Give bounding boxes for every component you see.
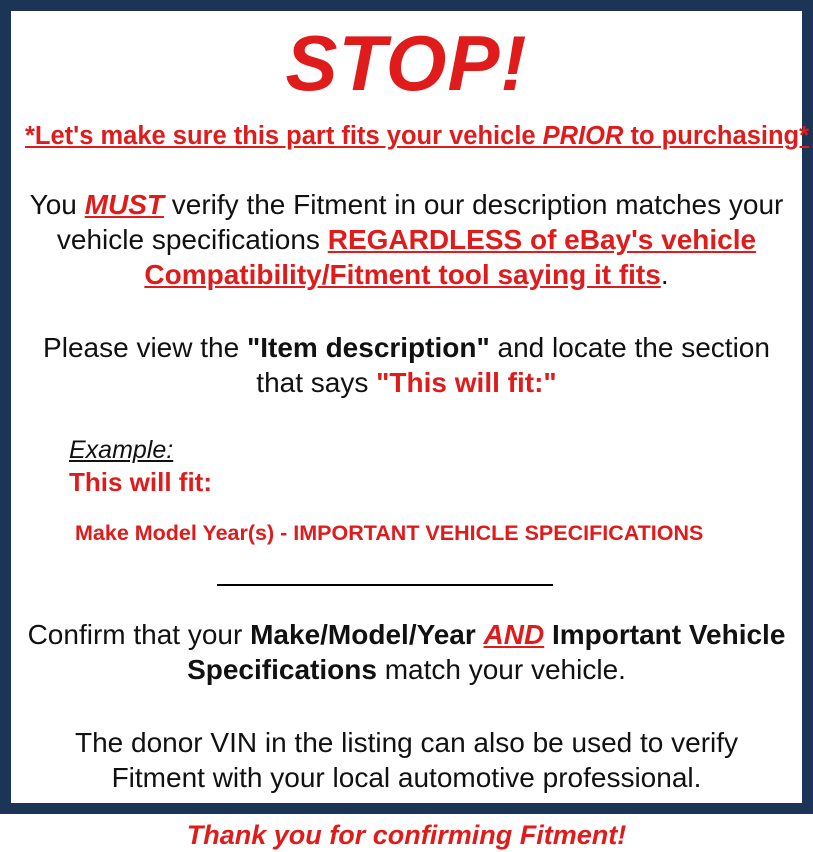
subtitle-text-part2: to purchasing* <box>623 122 809 150</box>
divider-wrapper <box>25 546 788 591</box>
this-will-fit-emphasis: "This will fit:" <box>376 367 557 398</box>
example-this-will-fit-heading: This will fit: <box>69 465 788 498</box>
must-text-3: . <box>661 259 669 290</box>
confirm-text-2 <box>476 619 484 650</box>
and-emphasis: AND <box>484 619 545 650</box>
itemdesc-text-1: Please view the <box>43 332 247 363</box>
thank-you-line: Thank you for confirming Fitment! <box>25 795 788 852</box>
make-model-year-emphasis: Make/Model/Year <box>250 619 476 650</box>
subtitle-text-part1: *Let's make sure this part fits your veh… <box>25 122 543 150</box>
paragraph-item-description: Please view the "Item description" and l… <box>25 292 788 400</box>
confirm-text-3 <box>544 619 552 650</box>
paragraph-must-verify: You MUST verify the Fitment in our descr… <box>25 151 788 292</box>
subtitle-emphasis-prior: PRIOR <box>543 122 624 150</box>
subtitle-banner: *Let's make sure this part fits your veh… <box>25 107 788 151</box>
notice-content-area: STOP! *Let's make sure this part fits yo… <box>11 11 802 803</box>
paragraph-confirm-match: Confirm that your Make/Model/Year AND Im… <box>25 591 788 687</box>
example-block: Example: This will fit: Make Model Year(… <box>25 400 788 546</box>
item-description-emphasis: "Item description" <box>247 332 490 363</box>
must-emphasis: MUST <box>85 189 164 220</box>
fitment-notice-card: STOP! *Let's make sure this part fits yo… <box>0 0 813 814</box>
paragraph-donor-vin: The donor VIN in the listing can also be… <box>25 687 788 795</box>
must-text-1: You <box>30 189 85 220</box>
horizontal-divider <box>217 584 553 586</box>
confirm-text-1: Confirm that your <box>28 619 251 650</box>
stop-heading: STOP! <box>25 11 788 107</box>
confirm-text-4: match your vehicle. <box>377 654 626 685</box>
example-specification-line: Make Model Year(s) - IMPORTANT VEHICLE S… <box>69 498 788 546</box>
example-label: Example: <box>69 436 788 465</box>
